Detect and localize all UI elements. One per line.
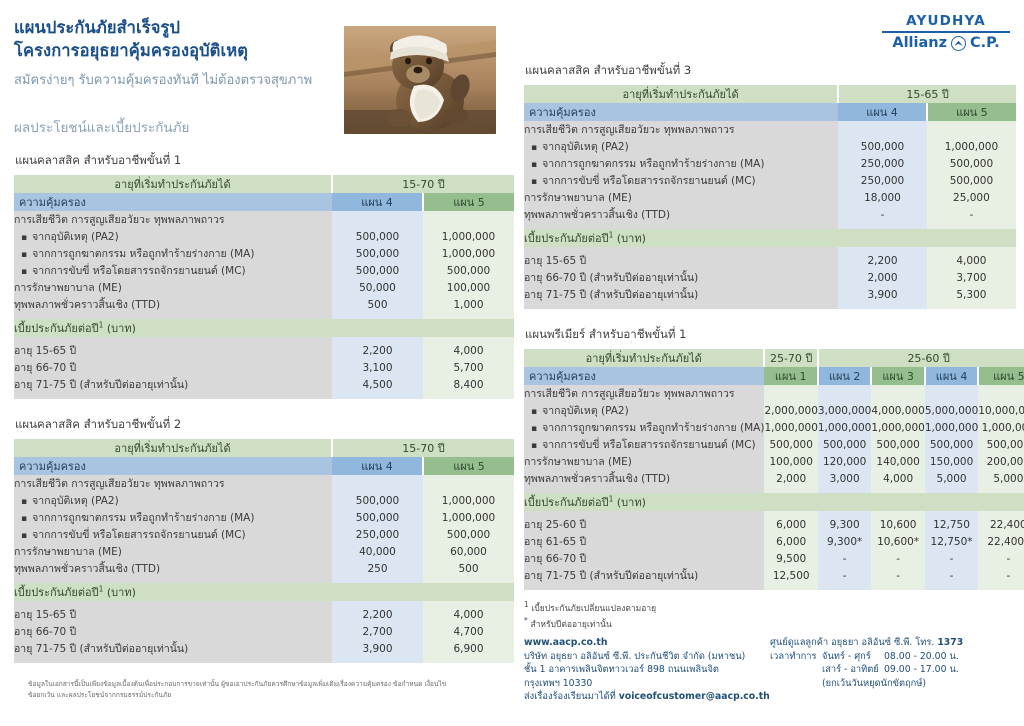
premium-value: 8,400 <box>423 376 514 393</box>
premium-value: 10,600* <box>871 533 924 550</box>
premium-value: 12,750* <box>925 533 978 550</box>
benefit-value: 120,000 <box>818 453 871 470</box>
benefit-row: จากการถูกฆาตกรรม หรือถูกทำร้ายร่างกาย (M… <box>14 509 514 526</box>
premium-value: 6,000 <box>764 516 817 533</box>
benefits-table: อายุที่เริ่มทำประกันภัยได้15-65 ปีความคุ… <box>524 85 1016 309</box>
benefit-value: 500,000 <box>332 262 423 279</box>
footnote: 1 เบี้ยประกันภัยเปลี่ยนแปลงตามอายุ <box>524 599 1016 615</box>
plan-header-1[interactable]: แผน 1 <box>764 367 817 385</box>
benefit-value <box>818 385 871 402</box>
age-eligibility-row: อายุที่เริ่มทำประกันภัยได้15-70 ปี <box>14 439 514 457</box>
hours-weekday-days: จันทร์ - ศุกร์ <box>822 650 884 664</box>
benefit-value: 250 <box>332 560 423 577</box>
age-range-value: 15-70 ปี <box>332 175 514 193</box>
benefit-value: 2,000,000 <box>764 402 817 419</box>
benefit-label: การเสียชีวิต การสูญเสียอวัยวะ ทุพพลภาพถา… <box>14 475 332 492</box>
premium-value: 9,300* <box>818 533 871 550</box>
premium-label: อายุ 71-75 ปี (สำหรับปีต่ออายุเท่านั้น) <box>14 376 332 393</box>
benefit-value: 4,000 <box>871 470 924 487</box>
contact-block: www.aacp.co.th บริษัท อยุธยา อลิอันซ์ ซี… <box>524 636 1016 704</box>
care-center-label: ศูนย์ดูแลลูกค้า อยุธยา อลิอันซ์ ซี.พี. โ… <box>770 637 934 648</box>
plan-header-1[interactable]: แผน 4 <box>332 193 423 211</box>
age-range-value: 15-70 ปี <box>332 439 514 457</box>
contact-company-info: www.aacp.co.th บริษัท อยุธยา อลิอันซ์ ซี… <box>524 636 770 704</box>
premium-value: 4,000 <box>423 606 514 623</box>
benefit-row: จากการขับขี่ หรือโดยสารรถจักรยานยนต์ (MC… <box>14 526 514 543</box>
premium-value: - <box>818 567 871 584</box>
premium-row: อายุ 71-75 ปี (สำหรับปีต่ออายุเท่านั้น)3… <box>14 640 514 657</box>
table-premier-occupation-1: อายุที่เริ่มทำประกันภัยได้25-70 ปี25-60 … <box>524 349 1016 590</box>
premium-row: อายุ 66-70 ปี3,1005,700 <box>14 359 514 376</box>
benefit-value: 25,000 <box>927 189 1016 206</box>
benefit-label: จากการขับขี่ หรือโดยสารรถจักรยานยนต์ (MC… <box>14 526 332 543</box>
premium-label: อายุ 71-75 ปี (สำหรับปีต่ออายุเท่านั้น) <box>524 567 764 584</box>
age-eligibility-row: อายุที่เริ่มทำประกันภัยได้15-70 ปี <box>14 175 514 193</box>
benefit-value <box>423 475 514 492</box>
benefit-value: 1,000,000 <box>871 419 924 436</box>
premium-label: อายุ 25-60 ปี <box>524 516 764 533</box>
spacer-row <box>524 584 1024 590</box>
benefit-value: 18,000 <box>838 189 927 206</box>
benefit-value <box>332 211 423 228</box>
benefit-value: 3,000 <box>818 470 871 487</box>
premium-header-label: เบี้ยประกันภัยต่อปี1 (บาท) <box>524 493 1024 511</box>
benefit-value: 60,000 <box>423 543 514 560</box>
benefit-value: 500,000 <box>332 245 423 262</box>
premier-footnotes: 1 เบี้ยประกันภัยเปลี่ยนแปลงตามอายุ* สำหร… <box>524 599 1016 631</box>
benefit-value: 500,000 <box>423 526 514 543</box>
benefit-value: 500,000 <box>927 155 1016 172</box>
premium-label: อายุ 66-70 ปี (สำหรับปีต่ออายุเท่านั้น) <box>524 269 838 286</box>
premium-row: อายุ 71-75 ปี (สำหรับปีต่ออายุเท่านั้น)3… <box>524 286 1016 303</box>
benefit-value <box>838 121 927 138</box>
benefit-value <box>978 385 1024 402</box>
benefit-value: 1,000,000 <box>423 245 514 262</box>
premium-value: 12,500 <box>764 567 817 584</box>
plan-header-1[interactable]: แผน 4 <box>838 103 927 121</box>
benefit-value: 5,000 <box>925 470 978 487</box>
premium-value: 12,750 <box>925 516 978 533</box>
premium-value: 6,900 <box>423 640 514 657</box>
benefit-row: จากการขับขี่ หรือโดยสารรถจักรยานยนต์ (MC… <box>14 262 514 279</box>
benefit-value: 250,000 <box>332 526 423 543</box>
benefit-row: ทุพพลภาพชั่วคราวสิ้นเชิง (TTD)-- <box>524 206 1016 223</box>
complaint-email-link[interactable]: voiceofcustomer@aacp.co.th <box>619 691 770 702</box>
benefit-row: จากอุบัติเหตุ (PA2)500,0001,000,000 <box>14 492 514 509</box>
hours-weekend-time: 09.00 - 17.00 น. <box>884 663 959 677</box>
benefit-label: จากการขับขี่ หรือโดยสารรถจักรยานยนต์ (MC… <box>524 436 764 453</box>
premium-header-row: เบี้ยประกันภัยต่อปี1 (บาท) <box>524 229 1016 247</box>
benefit-value: 250,000 <box>838 155 927 172</box>
plan-header-3[interactable]: แผน 3 <box>871 367 924 385</box>
benefit-value: 500,000 <box>978 436 1024 453</box>
spacer-row <box>14 657 514 663</box>
benefit-value: 4,000,000 <box>871 402 924 419</box>
premium-value: 3,900 <box>332 640 423 657</box>
plan-header-2[interactable]: แผน 2 <box>818 367 871 385</box>
benefit-value: 1,000,000 <box>423 509 514 526</box>
premium-label: อายุ 66-70 ปี <box>524 550 764 567</box>
benefit-value: 1,000,000 <box>764 419 817 436</box>
benefit-label: การรักษาพยาบาล (ME) <box>524 189 838 206</box>
care-center-phone[interactable]: 1373 <box>937 637 963 648</box>
benefit-row: จากการขับขี่ หรือโดยสารรถจักรยานยนต์ (MC… <box>524 172 1016 189</box>
premium-header-label: เบี้ยประกันภัยต่อปี1 (บาท) <box>524 229 1016 247</box>
premium-value: - <box>978 550 1024 567</box>
benefit-value: 5,000 <box>978 470 1024 487</box>
age-eligibility-label: อายุที่เริ่มทำประกันภัยได้ <box>524 349 764 367</box>
benefit-label: การรักษาพยาบาล (ME) <box>14 543 332 560</box>
benefit-label: ทุพพลภาพชั่วคราวสิ้นเชิง (TTD) <box>524 206 838 223</box>
benefit-value: 3,000,000 <box>818 402 871 419</box>
age-eligibility-row: อายุที่เริ่มทำประกันภัยได้15-65 ปี <box>524 85 1016 103</box>
benefit-value: 1,000 <box>423 296 514 313</box>
premium-label: อายุ 71-75 ปี (สำหรับปีต่ออายุเท่านั้น) <box>14 640 332 657</box>
benefit-row: การเสียชีวิต การสูญเสียอวัยวะ ทุพพลภาพถา… <box>524 121 1016 138</box>
table-classic-occupation-3: อายุที่เริ่มทำประกันภัยได้15-65 ปีความคุ… <box>524 85 1016 309</box>
benefit-value: 100,000 <box>423 279 514 296</box>
benefit-value <box>871 385 924 402</box>
premium-value: - <box>925 567 978 584</box>
company-address-line-1: ชั้น 1 อาคารเพลินจิตทาวเวอร์ 898 ถนนเพลิ… <box>524 663 770 677</box>
benefit-label: จากอุบัติเหตุ (PA2) <box>524 138 838 155</box>
table-caption-classic-2: แผนคลาสสิค สำหรับอาชีพขั้นที่ 2 <box>15 416 514 434</box>
brochure-page: AYUDHYA Allianz C.P. แผนประกันภัยสำเร็จร… <box>0 0 1024 726</box>
benefits-table: อายุที่เริ่มทำประกันภัยได้15-70 ปีความคุ… <box>14 439 514 663</box>
benefit-row: การรักษาพยาบาล (ME)18,00025,000 <box>524 189 1016 206</box>
benefit-label: การเสียชีวิต การสูญเสียอวัยวะ ทุพพลภาพถา… <box>524 385 764 402</box>
benefit-label: การรักษาพยาบาล (ME) <box>524 453 764 470</box>
teddy-bear-photo <box>344 26 496 134</box>
benefit-value <box>927 121 1016 138</box>
premium-value: 4,500 <box>332 376 423 393</box>
hours-weekend-days: เสาร์ - อาทิตย์ <box>822 663 884 677</box>
benefit-label: จากการขับขี่ หรือโดยสารรถจักรยานยนต์ (MC… <box>14 262 332 279</box>
benefit-label: การเสียชีวิต การสูญเสียอวัยวะ ทุพพลภาพถา… <box>524 121 838 138</box>
age-eligibility-label: อายุที่เริ่มทำประกันภัยได้ <box>524 85 838 103</box>
plan-header-1[interactable]: แผน 4 <box>332 457 423 475</box>
premium-value: 22,400* <box>978 533 1024 550</box>
benefit-value: 50,000 <box>332 279 423 296</box>
age-eligibility-label: อายุที่เริ่มทำประกันภัยได้ <box>14 175 332 193</box>
premium-value: 22,400 <box>978 516 1024 533</box>
age-range-group-1: 25-70 ปี <box>764 349 817 367</box>
benefit-label: จากการถูกฆาตกรรม หรือถูกทำร้ายร่างกาย (M… <box>14 245 332 262</box>
coverage-label: ความคุ้มครอง <box>524 103 838 121</box>
premium-row: อายุ 66-70 ปี (สำหรับปีต่ออายุเท่านั้น)2… <box>524 269 1016 286</box>
plan-header-row: ความคุ้มครองแผน 4แผน 5 <box>14 193 514 211</box>
benefit-value: 1,000,000 <box>925 419 978 436</box>
benefit-value: 140,000 <box>871 453 924 470</box>
spacer-row <box>14 393 514 399</box>
benefit-row: ทุพพลภาพชั่วคราวสิ้นเชิง (TTD)250500 <box>14 560 514 577</box>
plan-header-row: ความคุ้มครองแผน 1แผน 2แผน 3แผน 4แผน 5 <box>524 367 1024 385</box>
premium-row: อายุ 25-60 ปี6,0009,30010,60012,75022,40… <box>524 516 1024 533</box>
age-eligibility-label: อายุที่เริ่มทำประกันภัยได้ <box>14 439 332 457</box>
premium-value: 3,100 <box>332 359 423 376</box>
benefits-table: อายุที่เริ่มทำประกันภัยได้15-70 ปีความคุ… <box>14 175 514 399</box>
table-classic-occupation-1: อายุที่เริ่มทำประกันภัยได้15-70 ปีความคุ… <box>14 175 514 399</box>
benefit-value <box>332 475 423 492</box>
benefit-value: 500,000 <box>764 436 817 453</box>
holiday-note: (ยกเว้นวันหยุดนักขัตฤกษ์) <box>770 677 1016 691</box>
benefit-row: จากอุบัติเหตุ (PA2)500,0001,000,000 <box>524 138 1016 155</box>
benefits-table-premier: อายุที่เริ่มทำประกันภัยได้25-70 ปี25-60 … <box>524 349 1024 590</box>
benefit-row: การเสียชีวิต การสูญเสียอวัยวะ ทุพพลภาพถา… <box>14 211 514 228</box>
care-center-line: ศูนย์ดูแลลูกค้า อยุธยา อลิอันซ์ ซี.พี. โ… <box>770 636 1016 650</box>
benefit-label: ทุพพลภาพชั่วคราวสิ้นเชิง (TTD) <box>14 296 332 313</box>
benefit-value: 500,000 <box>871 436 924 453</box>
benefit-value: 2,000 <box>764 470 817 487</box>
premium-label: อายุ 61-65 ปี <box>524 533 764 550</box>
footnote-text: สำหรับปีต่ออายุเท่านั้น <box>530 620 611 630</box>
benefit-row: การเสียชีวิต การสูญเสียอวัยวะ ทุพพลภาพถา… <box>524 385 1024 402</box>
age-range-group-2: 25-60 ปี <box>818 349 1024 367</box>
premium-row: อายุ 15-65 ปี2,2004,000 <box>14 606 514 623</box>
benefit-label: จากการขับขี่ หรือโดยสารรถจักรยานยนต์ (MC… <box>524 172 838 189</box>
website-link[interactable]: www.aacp.co.th <box>524 636 770 650</box>
benefit-label: จากอุบัติเหตุ (PA2) <box>14 492 332 509</box>
benefit-value <box>423 211 514 228</box>
benefit-value: 500,000 <box>838 138 927 155</box>
complaint-label: ส่งเรื่องร้องเรียนมาได้ที่ <box>524 691 616 702</box>
benefit-value: 500 <box>332 296 423 313</box>
premium-value: 5,700 <box>423 359 514 376</box>
benefit-value: - <box>838 206 927 223</box>
disclaimer-text: ข้อมูลในเอกสารนี้เป็นเพียงข้อมูลเบื้องต้… <box>28 679 526 700</box>
premium-label: อายุ 15-65 ปี <box>14 342 332 359</box>
benefit-label: จากการถูกฆาตกรรม หรือถูกทำร้ายร่างกาย (M… <box>14 509 332 526</box>
right-column: แผนคลาสสิค สำหรับอาชีพขั้นที่ 3 อายุที่เ… <box>524 0 1016 631</box>
footnote-marker: * <box>524 616 528 625</box>
benefit-value: 1,000,000 <box>423 228 514 245</box>
hours-spacer <box>770 663 822 677</box>
complaint-line: ส่งเรื่องร้องเรียนมาได้ที่ voiceofcustom… <box>524 690 770 704</box>
disclaimer-line-1: ข้อมูลในเอกสารนี้เป็นเพียงข้อมูลเบื้องต้… <box>28 679 526 690</box>
benefit-value: 500,000 <box>332 228 423 245</box>
plan-header-2[interactable]: แผน 5 <box>927 103 1016 121</box>
benefit-label: จากการถูกฆาตกรรม หรือถูกทำร้ายร่างกาย (M… <box>524 419 764 436</box>
table-classic-occupation-2: อายุที่เริ่มทำประกันภัยได้15-70 ปีความคุ… <box>14 439 514 663</box>
benefit-value: 40,000 <box>332 543 423 560</box>
premium-label: อายุ 66-70 ปี <box>14 359 332 376</box>
coverage-label: ความคุ้มครอง <box>14 457 332 475</box>
hours-weekday-row: เวลาทำการ จันทร์ - ศุกร์ 08.00 - 20.00 น… <box>770 650 1016 664</box>
hours-weekend-row: เสาร์ - อาทิตย์ 09.00 - 17.00 น. <box>770 663 1016 677</box>
premium-value: 10,600 <box>871 516 924 533</box>
premium-label: อายุ 15-65 ปี <box>14 606 332 623</box>
plan-header-2[interactable]: แผน 5 <box>423 457 514 475</box>
premium-row: อายุ 15-65 ปี2,2004,000 <box>14 342 514 359</box>
benefit-value: - <box>927 206 1016 223</box>
coverage-label: ความคุ้มครอง <box>14 193 332 211</box>
premium-value: 2,700 <box>332 623 423 640</box>
plan-header-row: ความคุ้มครองแผน 4แผน 5 <box>14 457 514 475</box>
hours-label: เวลาทำการ <box>770 650 822 664</box>
benefit-label: การรักษาพยาบาล (ME) <box>14 279 332 296</box>
benefit-label: จากอุบัติเหตุ (PA2) <box>14 228 332 245</box>
plan-header-5[interactable]: แผน 5 <box>978 367 1024 385</box>
benefit-row: จากการถูกฆาตกรรม หรือถูกทำร้ายร่างกาย (M… <box>524 155 1016 172</box>
premium-header-label: เบี้ยประกันภัยต่อปี1 (บาท) <box>14 319 514 337</box>
premium-value: 9,300 <box>818 516 871 533</box>
premium-value: 2,200 <box>838 252 927 269</box>
benefit-row: จากอุบัติเหตุ (PA2)2,000,0003,000,0004,0… <box>524 402 1024 419</box>
premium-value: 5,300 <box>927 286 1016 303</box>
benefit-row: การรักษาพยาบาล (ME)40,00060,000 <box>14 543 514 560</box>
benefit-value <box>925 385 978 402</box>
benefit-value: 500,000 <box>818 436 871 453</box>
premium-row: อายุ 66-70 ปี9,500---- <box>524 550 1024 567</box>
premium-value: - <box>871 550 924 567</box>
benefit-value: 500,000 <box>332 509 423 526</box>
company-address-line-2: กรุงเทพฯ 10330 <box>524 677 770 691</box>
premium-value: 2,200 <box>332 342 423 359</box>
benefit-row: จากการถูกฆาตกรรม หรือถูกทำร้ายร่างกาย (M… <box>524 419 1024 436</box>
benefit-value: 150,000 <box>925 453 978 470</box>
benefit-row: จากการถูกฆาตกรรม หรือถูกทำร้ายร่างกาย (M… <box>14 245 514 262</box>
benefit-value <box>764 385 817 402</box>
age-range-value: 15-65 ปี <box>838 85 1016 103</box>
benefit-value: 100,000 <box>764 453 817 470</box>
plan-header-row: ความคุ้มครองแผน 4แผน 5 <box>524 103 1016 121</box>
premium-label: อายุ 66-70 ปี <box>14 623 332 640</box>
benefit-value: 500,000 <box>332 492 423 509</box>
premium-value: 3,900 <box>838 286 927 303</box>
benefit-value: 500,000 <box>925 436 978 453</box>
premium-label: อายุ 15-65 ปี <box>524 252 838 269</box>
premium-value: 6,000 <box>764 533 817 550</box>
footnote: * สำหรับปีต่ออายุเท่านั้น <box>524 615 1016 631</box>
coverage-label: ความคุ้มครอง <box>524 367 764 385</box>
plan-header-2[interactable]: แผน 5 <box>423 193 514 211</box>
premium-label: อายุ 71-75 ปี (สำหรับปีต่ออายุเท่านั้น) <box>524 286 838 303</box>
benefit-row: การรักษาพยาบาล (ME)100,000120,000140,000… <box>524 453 1024 470</box>
benefit-row: การเสียชีวิต การสูญเสียอวัยวะ ทุพพลภาพถา… <box>14 475 514 492</box>
benefit-label: ทุพพลภาพชั่วคราวสิ้นเชิง (TTD) <box>524 470 764 487</box>
premium-value: - <box>925 550 978 567</box>
disclaimer-line-2: ข้อยกเว้น และผลประโยชน์จากกรมธรรม์ประกัน… <box>28 690 526 701</box>
premium-value: 4,000 <box>927 252 1016 269</box>
premium-row: อายุ 71-75 ปี (สำหรับปีต่ออายุเท่านั้น)1… <box>524 567 1024 584</box>
age-eligibility-row: อายุที่เริ่มทำประกันภัยได้25-70 ปี25-60 … <box>524 349 1024 367</box>
hours-weekday-time: 08.00 - 20.00 น. <box>884 650 959 664</box>
premium-row: อายุ 61-65 ปี6,0009,300*10,600*12,750*22… <box>524 533 1024 550</box>
premium-value: 2,000 <box>838 269 927 286</box>
benefit-value: 1,000,000 <box>927 138 1016 155</box>
benefit-value: 1,000,000 <box>978 419 1024 436</box>
benefit-label: จากอุบัติเหตุ (PA2) <box>524 402 764 419</box>
premium-row: อายุ 66-70 ปี2,7004,700 <box>14 623 514 640</box>
benefit-value: 500 <box>423 560 514 577</box>
benefit-value: 1,000,000 <box>818 419 871 436</box>
benefit-row: จากอุบัติเหตุ (PA2)500,0001,000,000 <box>14 228 514 245</box>
benefit-label: จากการถูกฆาตกรรม หรือถูกทำร้ายร่างกาย (M… <box>524 155 838 172</box>
benefit-value: 5,000,000 <box>925 402 978 419</box>
premium-header-row: เบี้ยประกันภัยต่อปี1 (บาท) <box>14 319 514 337</box>
premium-value: - <box>871 567 924 584</box>
premium-row: อายุ 71-75 ปี (สำหรับปีต่ออายุเท่านั้น)4… <box>14 376 514 393</box>
benefit-row: ทุพพลภาพชั่วคราวสิ้นเชิง (TTD)5001,000 <box>14 296 514 313</box>
premium-header-row: เบี้ยประกันภัยต่อปี1 (บาท) <box>524 493 1024 511</box>
premium-value: 4,700 <box>423 623 514 640</box>
premium-header-row: เบี้ยประกันภัยต่อปี1 (บาท) <box>14 583 514 601</box>
benefit-value: 500,000 <box>927 172 1016 189</box>
premium-value: 2,200 <box>332 606 423 623</box>
benefit-row: การรักษาพยาบาล (ME)50,000100,000 <box>14 279 514 296</box>
premium-row: อายุ 15-65 ปี2,2004,000 <box>524 252 1016 269</box>
spacer-row <box>524 303 1016 309</box>
company-name: บริษัท อยุธยา อลิอันซ์ ซี.พี. ประกันชีวิ… <box>524 650 770 664</box>
premium-value: 3,700 <box>927 269 1016 286</box>
premium-value: 9,500 <box>764 550 817 567</box>
table-caption-classic-1: แผนคลาสสิค สำหรับอาชีพขั้นที่ 1 <box>15 152 514 170</box>
footnote-marker: 1 <box>524 600 529 609</box>
premium-header-label: เบี้ยประกันภัยต่อปี1 (บาท) <box>14 583 514 601</box>
benefit-row: ทุพพลภาพชั่วคราวสิ้นเชิง (TTD)2,0003,000… <box>524 470 1024 487</box>
premium-value: - <box>978 567 1024 584</box>
table-caption-premier: แผนพรีเมียร์ สำหรับอาชีพขั้นที่ 1 <box>525 326 1016 344</box>
premium-value: 4,000 <box>423 342 514 359</box>
premium-value: - <box>818 550 871 567</box>
plan-header-4[interactable]: แผน 4 <box>925 367 978 385</box>
benefit-value: 250,000 <box>838 172 927 189</box>
benefit-value: 500,000 <box>423 262 514 279</box>
contact-care-center: ศูนย์ดูแลลูกค้า อยุธยา อลิอันซ์ ซี.พี. โ… <box>770 636 1016 704</box>
benefit-value: 1,000,000 <box>423 492 514 509</box>
benefit-label: ทุพพลภาพชั่วคราวสิ้นเชิง (TTD) <box>14 560 332 577</box>
table-caption-classic-3: แผนคลาสสิค สำหรับอาชีพขั้นที่ 3 <box>525 62 1016 80</box>
benefit-label: การเสียชีวิต การสูญเสียอวัยวะ ทุพพลภาพถา… <box>14 211 332 228</box>
benefit-value: 200,000 <box>978 453 1024 470</box>
benefit-row: จากการขับขี่ หรือโดยสารรถจักรยานยนต์ (MC… <box>524 436 1024 453</box>
footnote-text: เบี้ยประกันภัยเปลี่ยนแปลงตามอายุ <box>531 604 656 614</box>
benefit-value: 10,000,000 <box>978 402 1024 419</box>
